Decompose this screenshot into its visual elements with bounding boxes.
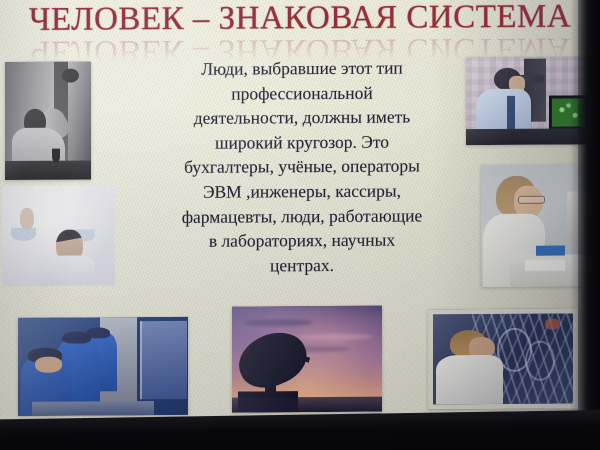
photo-lab-scientist bbox=[5, 61, 91, 180]
photo-satellite-dish bbox=[232, 306, 382, 413]
body-line: в лабораториях, научных bbox=[143, 227, 461, 254]
photo-microscope bbox=[466, 56, 591, 145]
photo-assembly-line-workers bbox=[18, 317, 188, 416]
body-line: фармацевты, люди, работающие bbox=[143, 203, 461, 230]
body-line: центрах. bbox=[143, 252, 461, 279]
body-line: бухгалтеры, учёные, операторы bbox=[143, 154, 461, 181]
presentation-slide: ЧЕЛОВЕК – ЗНАКОВАЯ СИСТЕМА ЧЕЛОВЕК – ЗНА… bbox=[0, 0, 600, 424]
body-line: Люди, выбравшие этот тип bbox=[143, 55, 461, 82]
body-line: ЭВМ ,инженеры, кассиры, bbox=[143, 178, 461, 205]
slide-body-text: Люди, выбравшие этот тип профессионально… bbox=[143, 55, 461, 278]
screen-bezel-right bbox=[578, 0, 600, 450]
body-line: профессиональной bbox=[143, 80, 461, 107]
body-line: широкий кругозор. Это bbox=[143, 129, 461, 156]
slide-photograph: ЧЕЛОВЕК – ЗНАКОВАЯ СИСТЕМА ЧЕЛОВЕК – ЗНА… bbox=[0, 0, 600, 450]
photo-chemist bbox=[2, 185, 115, 286]
photo-industrial-worker bbox=[428, 308, 578, 409]
photo-woman-at-desk bbox=[481, 164, 591, 287]
body-line: деятельности, должны иметь bbox=[143, 104, 461, 131]
